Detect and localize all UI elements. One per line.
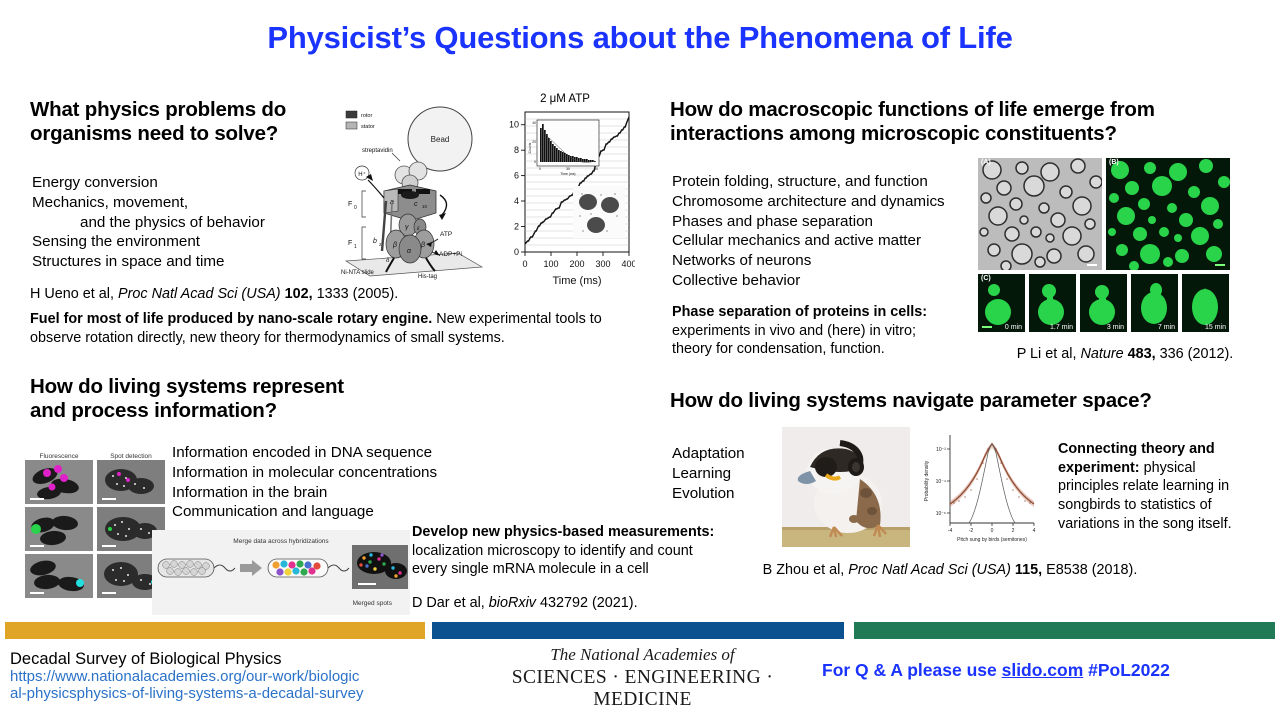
svg-text:Time (ms): Time (ms) xyxy=(560,172,575,176)
q3-caption-bold: Develop new physics-based measurements: xyxy=(412,523,742,542)
micrograph-panel-b: (B) xyxy=(1106,158,1230,270)
svg-text:F: F xyxy=(348,201,352,208)
svg-text:4: 4 xyxy=(1033,528,1036,534)
svg-text:40: 40 xyxy=(532,121,536,125)
list-item: Collective behavior xyxy=(672,271,1002,291)
svg-text:His-tag: His-tag xyxy=(418,274,437,280)
svg-text:-2: -2 xyxy=(969,528,974,534)
chart-xlabel: Time (ms) xyxy=(552,275,601,287)
svg-text:100: 100 xyxy=(543,259,558,269)
timepoint-label: 7 min xyxy=(1158,324,1175,331)
q4-heading: How do living systems navigate parameter… xyxy=(670,389,1260,413)
svg-text:b: b xyxy=(373,238,377,245)
svg-text:H⁺: H⁺ xyxy=(358,171,366,178)
list-item: Protein folding, structure, and function xyxy=(672,172,1002,192)
chart-xlabel: Pitch sung by birds (semitones) xyxy=(957,537,1027,543)
list-item: Structures in space and time xyxy=(32,252,362,272)
footer-bar-gold xyxy=(5,622,425,639)
timepoint-label: 15 min xyxy=(1205,324,1226,331)
footer-bar-green xyxy=(854,622,1275,639)
atp-synthase-schematic: Bead streptavidin a c 10 H⁺ xyxy=(340,103,488,286)
q2-heading: How do macroscopic functions of life eme… xyxy=(670,98,1260,146)
national-academies-logo: The National Academies of SCIENCES · ENG… xyxy=(470,645,815,711)
list-item: Information encoded in DNA sequence xyxy=(172,443,502,463)
citation-pages: 336 (2012). xyxy=(1160,346,1234,362)
chart-title: 2 μM ATP xyxy=(495,93,635,105)
svg-text:10: 10 xyxy=(509,120,519,130)
scale-bar xyxy=(102,545,116,547)
svg-text:400: 400 xyxy=(621,259,635,269)
footer-bar-blue xyxy=(432,622,844,639)
chart-ylabel: Probability density xyxy=(924,460,930,501)
list-item: Sensing the environment xyxy=(32,232,362,252)
citation-journal: Proc Natl Acad Sci (USA) xyxy=(848,562,1011,578)
citation-authors: D Dar et al, xyxy=(412,595,485,611)
q2-caption-line2: experiments in vivo and (here) in vitro; xyxy=(672,322,982,341)
q3-citation: D Dar et al, bioRxiv 432792 (2021). xyxy=(412,594,742,613)
citation-authors: B Zhou et al, xyxy=(763,562,845,578)
q1-heading-line1: What physics problems do xyxy=(30,98,360,122)
svg-text:2: 2 xyxy=(514,222,519,232)
q2-caption: Phase separation of proteins in cells: e… xyxy=(672,303,982,359)
scale-bar xyxy=(30,592,44,594)
list-item: Networks of neurons xyxy=(672,251,1002,271)
list-item: and the physics of behavior xyxy=(32,213,362,233)
svg-text:10⁻²: 10⁻² xyxy=(936,447,946,453)
nas-logo-top: The National Academies of xyxy=(470,645,815,665)
list-item: Mechanics, movement, xyxy=(32,193,362,213)
list-item: Information in the brain xyxy=(172,483,502,503)
timelapse-frame: 7 min xyxy=(1131,274,1178,332)
footer-left: Decadal Survey of Biological Physics htt… xyxy=(10,650,480,703)
svg-text:Ni-NTA slide: Ni-NTA slide xyxy=(341,270,375,276)
svg-text:0: 0 xyxy=(539,167,541,171)
svg-text:10: 10 xyxy=(422,204,428,209)
scale-bar xyxy=(982,326,992,328)
svg-text:-4: -4 xyxy=(948,528,953,534)
citation-pages: E8538 (2018). xyxy=(1046,562,1137,578)
scale-bar xyxy=(102,498,116,500)
svg-text:0: 0 xyxy=(354,205,357,211)
q2-caption-bold: Phase separation of proteins in cells: xyxy=(672,303,982,322)
timepoint-label: 0 min xyxy=(1005,324,1022,331)
q3-heading-line1: How do living systems represent xyxy=(30,375,450,399)
atp-rotation-chart: 2 μM ATP xyxy=(495,93,635,289)
timelapse-frame: 3 min xyxy=(1080,274,1127,332)
svg-text:c: c xyxy=(414,201,418,208)
svg-text:30: 30 xyxy=(566,167,570,171)
timelapse-frame: 15 min xyxy=(1182,274,1229,332)
microscopy-cell xyxy=(25,460,93,504)
citation-journal: Proc Natl Acad Sci (USA) xyxy=(118,286,281,302)
list-item: Information in molecular concentrations xyxy=(172,463,502,483)
qa-prefix: For Q & A please use xyxy=(822,660,1002,680)
survey-url-line2[interactable]: al-physicsphysics-of-living-systems-a-de… xyxy=(10,686,480,703)
list-item: Phases and phase separation xyxy=(672,212,1002,232)
svg-text:0: 0 xyxy=(534,160,536,164)
svg-text:β: β xyxy=(420,242,425,249)
slide-root: Physicist’s Questions about the Phenomen… xyxy=(0,0,1280,720)
scale-bar xyxy=(102,592,116,594)
list-item: Energy conversion xyxy=(32,173,362,193)
phase-separation-micrographs: (A) xyxy=(978,158,1230,333)
svg-text:ADP+Pi: ADP+Pi xyxy=(439,251,462,258)
svg-text:2: 2 xyxy=(1012,528,1015,534)
q3-caption-line2: localization microscopy to identify and … xyxy=(412,542,742,561)
survey-url-line1[interactable]: https://www.nationalacademies.org/our-wo… xyxy=(10,669,480,686)
survey-url[interactable]: https://www.nationalacademies.org/our-wo… xyxy=(10,669,480,703)
citation-journal: Nature xyxy=(1080,346,1123,362)
svg-text:1: 1 xyxy=(354,244,357,250)
list-item: Cellular mechanics and active matter xyxy=(672,231,1002,251)
svg-text:Counts: Counts xyxy=(528,142,532,153)
citation-volume: 483, xyxy=(1128,346,1156,362)
svg-text:rotor: rotor xyxy=(361,113,372,119)
list-item: Communication and language xyxy=(172,502,502,522)
citation-authors: H Ueno et al, xyxy=(30,286,114,302)
merge-hybridizations-diagram: Merge data across hybridizations xyxy=(152,530,410,615)
q3-heading-line2: and process information? xyxy=(30,399,450,423)
timepoint-label: 1.7 min xyxy=(1050,324,1073,331)
q1-caption: Fuel for most of life produced by nano-s… xyxy=(30,310,645,347)
citation-pages: 1333 (2005). xyxy=(317,286,399,302)
svg-text:γ: γ xyxy=(405,224,409,231)
svg-text:0: 0 xyxy=(522,259,527,269)
svg-text:300: 300 xyxy=(595,259,610,269)
q1-heading: What physics problems do organisms need … xyxy=(30,98,360,146)
merged-spots-label: Merged spots xyxy=(152,600,410,607)
timelapse-frame: 1.7 min xyxy=(1029,274,1076,332)
microscopy-cell xyxy=(25,554,93,598)
svg-text:β: β xyxy=(392,242,397,249)
slido-link[interactable]: slido.com xyxy=(1002,660,1084,680)
q2-bullet-list: Protein folding, structure, and function… xyxy=(672,172,1002,291)
q2-citation: P Li et al, Nature 483, 336 (2012). xyxy=(975,345,1275,364)
svg-text:ATP: ATP xyxy=(440,231,452,238)
scale-bar xyxy=(30,498,44,500)
panel-label-c: (C) xyxy=(981,275,991,282)
page-title: Physicist’s Questions about the Phenomen… xyxy=(0,20,1280,56)
svg-text:200: 200 xyxy=(569,259,584,269)
svg-text:60: 60 xyxy=(594,167,598,171)
panel-label-b: (B) xyxy=(1109,159,1119,166)
svg-text:F: F xyxy=(348,240,352,247)
scale-bar xyxy=(1087,264,1097,266)
svg-text:stator: stator xyxy=(361,124,375,130)
timepoint-label: 3 min xyxy=(1107,324,1124,331)
column-header-spot-detection: Spot detection xyxy=(97,453,165,460)
svg-text:0: 0 xyxy=(991,528,994,534)
svg-text:4: 4 xyxy=(514,196,519,206)
svg-text:0: 0 xyxy=(514,247,519,257)
q4-caption: Connecting theory and experiment: physic… xyxy=(1058,440,1258,534)
citation-volume: 115, xyxy=(1015,562,1042,578)
q1-bullet-list: Energy conversion Mechanics, movement, a… xyxy=(32,173,362,272)
scale-bar xyxy=(1215,264,1225,266)
svg-text:Bead: Bead xyxy=(431,135,450,144)
svg-text:20: 20 xyxy=(532,140,536,144)
songbird-photo xyxy=(782,427,910,547)
fluorescence-spot-grid: Fluorescence Spot detection xyxy=(25,453,165,613)
q1-heading-line2: organisms need to solve? xyxy=(30,122,360,146)
citation-volume: 102, xyxy=(285,286,313,302)
qa-note: For Q & A please use slido.com #PoL2022 xyxy=(822,660,1272,681)
timelapse-frame: (C) 0 min xyxy=(978,274,1025,332)
q4-citation: B Zhou et al, Proc Natl Acad Sci (USA) 1… xyxy=(640,561,1260,580)
svg-text:streptavidin: streptavidin xyxy=(362,148,393,154)
svg-text:6: 6 xyxy=(514,171,519,181)
citation-journal: bioRxiv xyxy=(489,595,536,611)
svg-text:10⁻⁴: 10⁻⁴ xyxy=(936,479,946,485)
qa-suffix: #PoL2022 xyxy=(1083,660,1170,680)
panel-label-a: (A) xyxy=(981,159,991,166)
citation-authors: P Li et al, xyxy=(1017,346,1077,362)
q2-heading-line2: interactions among microscopic constitue… xyxy=(670,122,1260,146)
svg-text:8: 8 xyxy=(514,145,519,155)
scale-bar xyxy=(30,545,44,547)
nas-logo-bottom: SCIENCES · ENGINEERING · MEDICINE xyxy=(470,667,815,711)
q1-caption-bold: Fuel for most of life produced by nano-s… xyxy=(30,311,432,327)
q2-heading-line1: How do macroscopic functions of life eme… xyxy=(670,98,1260,122)
list-item: Chromosome architecture and dynamics xyxy=(672,192,1002,212)
q2-caption-line3: theory for condensation, function. xyxy=(672,340,982,359)
pitch-distribution-chart: 10⁻²10⁻⁴10⁻⁶ Probability density -4-20 2… xyxy=(916,425,1038,547)
svg-text:10⁻⁶: 10⁻⁶ xyxy=(936,511,946,517)
citation-pages: 432792 (2021). xyxy=(540,595,638,611)
q3-heading: How do living systems represent and proc… xyxy=(30,375,450,423)
micrograph-panel-a: (A) xyxy=(978,158,1102,270)
column-header-fluorescence: Fluorescence xyxy=(25,453,93,460)
survey-title: Decadal Survey of Biological Physics xyxy=(10,650,480,669)
microscopy-cell xyxy=(25,507,93,551)
merge-caption: Merge data across hybridizations xyxy=(152,530,410,545)
microscopy-cell xyxy=(97,460,165,504)
q3-bullet-list: Information encoded in DNA sequence Info… xyxy=(172,443,502,522)
